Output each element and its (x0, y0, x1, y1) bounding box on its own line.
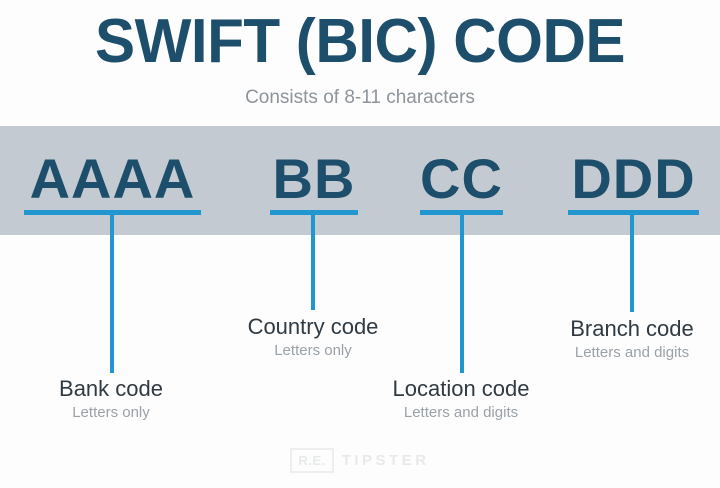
label-title-location: Location code (352, 375, 570, 402)
label-block-country: Country code Letters only (203, 313, 423, 361)
label-description-bank: Letters only (0, 403, 222, 423)
connector-line-location (460, 213, 464, 373)
label-title-country: Country code (203, 313, 423, 340)
page-subtitle: Consists of 8-11 characters (0, 86, 720, 110)
connector-line-branch (630, 213, 634, 312)
label-block-branch: Branch code Letters and digits (522, 315, 720, 363)
code-text-location: CC (420, 149, 503, 209)
infographic-canvas: SWIFT (BIC) CODE Consists of 8-11 charac… (0, 0, 720, 488)
label-description-location: Letters and digits (352, 403, 570, 423)
label-title-bank: Bank code (0, 375, 222, 402)
code-text-bank: AAAA (24, 149, 201, 209)
code-text-country: BB (270, 149, 358, 209)
label-block-bank: Bank code Letters only (0, 375, 222, 423)
footer-watermark: R.E. TIPSTER (0, 448, 720, 473)
page-title: SWIFT (BIC) CODE (11, 8, 709, 76)
label-description-branch: Letters and digits (522, 343, 720, 363)
code-text-branch: DDD (568, 149, 699, 209)
label-description-country: Letters only (203, 341, 423, 361)
connector-line-bank (110, 213, 114, 373)
brand-mark-box: R.E. (290, 448, 333, 473)
brand-mark-word: TIPSTER (342, 453, 430, 468)
connector-line-country (311, 213, 315, 310)
label-title-branch: Branch code (522, 315, 720, 342)
label-block-location: Location code Letters and digits (352, 375, 570, 423)
